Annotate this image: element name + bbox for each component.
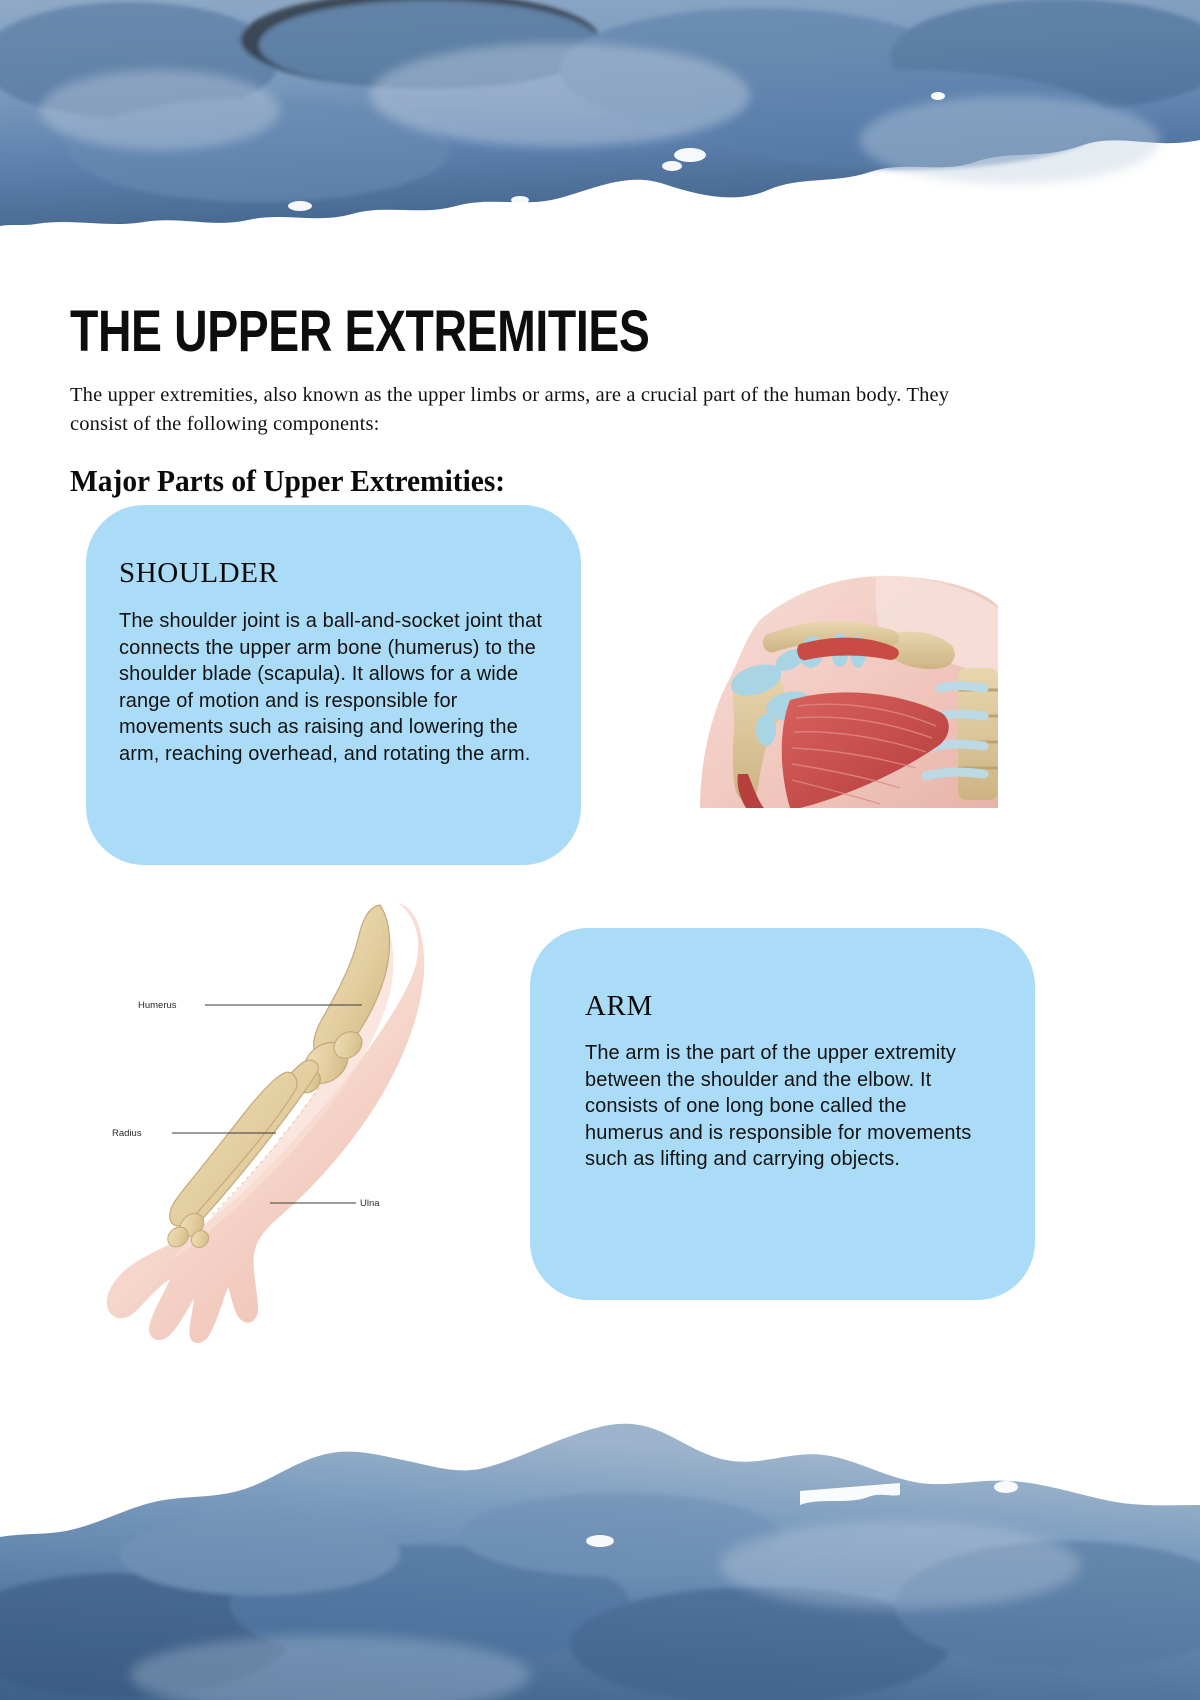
card-arm-heading: ARM [585, 990, 653, 1023]
card-shoulder: SHOULDER The shoulder joint is a ball-an… [86, 505, 581, 865]
arm-bones-illustration: Humerus Radius Ulna [80, 895, 500, 1345]
shoulder-anatomy-illustration [640, 560, 998, 808]
card-arm-body: The arm is the part of the upper extremi… [585, 1040, 980, 1173]
svg-text:Humerus: Humerus [138, 1000, 177, 1011]
card-shoulder-heading: SHOULDER [119, 557, 278, 590]
page-title: THE UPPER EXTREMITIES [70, 303, 649, 361]
section-subheading: Major Parts of Upper Extremities: [70, 463, 505, 499]
intro-paragraph: The upper extremities, also known as the… [70, 381, 955, 439]
svg-text:Ulna: Ulna [360, 1198, 380, 1209]
poster-page: THE UPPER EXTREMITIES The upper extremit… [0, 0, 1200, 1700]
card-arm: ARM The arm is the part of the upper ext… [530, 928, 1035, 1300]
svg-text:Radius: Radius [112, 1128, 142, 1139]
card-shoulder-body: The shoulder joint is a ball-and-socket … [119, 608, 544, 767]
